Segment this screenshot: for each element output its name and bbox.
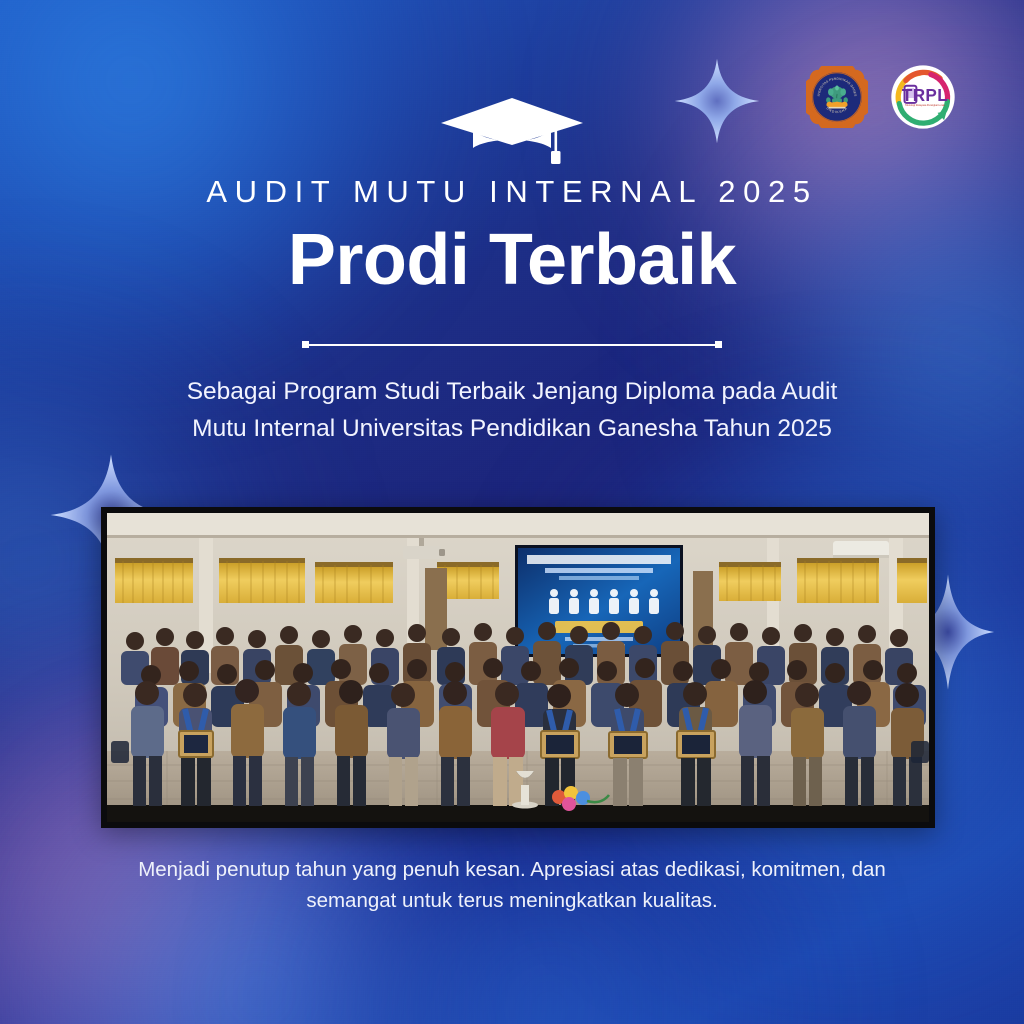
poster-content: UNIVERSITAS PENDIDIKAN GANESHA UNDIKSHA (0, 0, 1024, 1024)
divider-dot-right (715, 341, 722, 348)
svg-text:TRPL: TRPL (902, 85, 948, 105)
eyebrow-title: AUDIT MUTU INTERNAL 2025 (0, 174, 1024, 210)
photo-frame (101, 507, 935, 828)
group-photo (107, 513, 929, 822)
title-divider (302, 341, 722, 349)
graduation-cap-icon (437, 92, 587, 170)
poster-canvas: UNIVERSITAS PENDIDIKAN GANESHA UNDIKSHA (0, 0, 1024, 1024)
divider-line (306, 344, 718, 346)
undiksha-logo: UNIVERSITAS PENDIDIKAN GANESHA UNDIKSHA (806, 66, 868, 128)
trpl-logo: TRPL Teknologi Rekayasa Perangkat Lunak (890, 64, 956, 130)
page-title: Prodi Terbaik (0, 224, 1024, 296)
logo-row: UNIVERSITAS PENDIDIKAN GANESHA UNDIKSHA (806, 64, 956, 130)
subtitle-text: Sebagai Program Studi Terbaik Jenjang Di… (162, 373, 862, 447)
svg-text:Teknologi Rekayasa Perangkat L: Teknologi Rekayasa Perangkat Lunak (905, 104, 945, 107)
footer-caption: Menjadi penutup tahun yang penuh kesan. … (122, 855, 902, 917)
